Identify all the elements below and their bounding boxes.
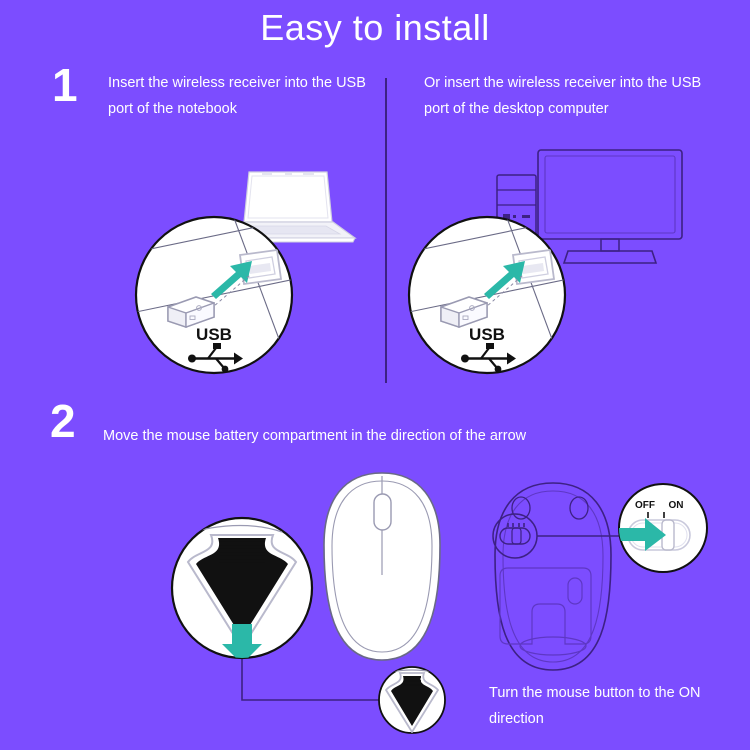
usb-label-desktop: USB xyxy=(469,325,505,344)
magnifier-circle-battery-arrow xyxy=(172,518,312,664)
usb-label-notebook: USB xyxy=(196,325,232,344)
infographic-page: Easy to install 1 Insert the wireless re… xyxy=(0,0,750,750)
switch-off-label: OFF xyxy=(635,500,655,511)
desktop-monitor-icon xyxy=(538,150,682,263)
illustration-layer: USB xyxy=(0,0,750,750)
magnifier-circle-small-arrow xyxy=(379,667,445,733)
magnifier-circle-desktop: USB xyxy=(409,217,573,374)
mouse-top-icon xyxy=(324,473,440,660)
switch-on-label: ON xyxy=(669,500,684,511)
mouse-bottom-icon xyxy=(493,483,619,670)
magnifier-circle-switch: OFF ON xyxy=(615,484,707,572)
power-switch-icon xyxy=(493,514,537,558)
